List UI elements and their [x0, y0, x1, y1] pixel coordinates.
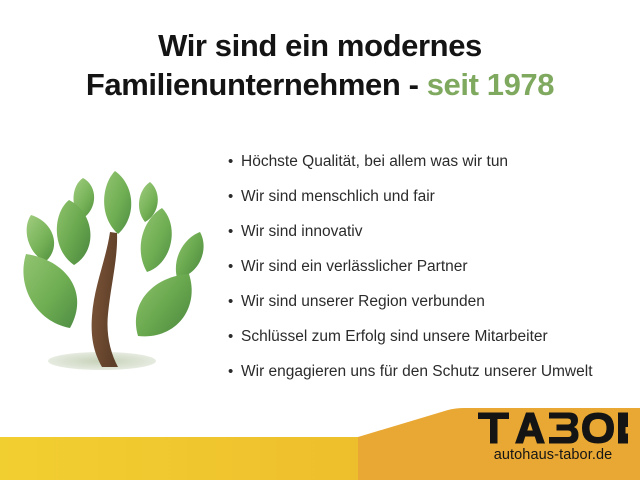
list-item-label: Wir sind unserer Region verbunden — [241, 292, 485, 312]
headline-line-2-main: Familienunternehmen - — [86, 67, 427, 102]
list-item: • Wir engagieren uns für den Schutz unse… — [228, 362, 640, 397]
bullet-icon: • — [228, 292, 241, 312]
page-title: Wir sind ein modernes Familienunternehme… — [0, 26, 640, 104]
list-item-label: Schlüssel zum Erfolg sind unsere Mitarbe… — [241, 327, 548, 347]
list-item: • Wir sind menschlich und fair — [228, 187, 640, 222]
slide-canvas: Wir sind ein modernes Familienunternehme… — [0, 0, 640, 480]
brand-tagline: autohaus-tabor.de — [478, 447, 628, 463]
bullet-icon: • — [228, 257, 241, 277]
bullet-icon: • — [228, 327, 241, 347]
list-item: • Wir sind unserer Region verbunden — [228, 292, 640, 327]
leaf-lower-right — [136, 274, 192, 336]
tree-trunk — [92, 232, 118, 367]
brand-wordmark — [478, 412, 628, 444]
leaf-lower-left — [23, 254, 77, 328]
list-item: • Schlüssel zum Erfolg sind unsere Mitar… — [228, 327, 640, 362]
bullet-icon: • — [228, 362, 241, 382]
list-item: • Wir sind ein verlässlicher Partner — [228, 257, 640, 292]
leaf-top-center — [104, 171, 131, 234]
brand-logo[interactable]: autohaus-tabor.de — [478, 412, 628, 463]
bullet-icon: • — [228, 222, 241, 242]
leaf-mid-far-right — [176, 232, 204, 278]
list-item-label: Wir sind menschlich und fair — [241, 187, 435, 207]
tree-illustration — [14, 164, 214, 386]
footer-yellow-strip — [0, 437, 358, 480]
list-item-label: Wir sind ein verlässlicher Partner — [241, 257, 468, 277]
list-item-label: Höchste Qualität, bei allem was wir tun — [241, 152, 508, 172]
list-item-label: Wir sind innovativ — [241, 222, 362, 242]
headline-accent-year: seit 1978 — [427, 67, 554, 102]
list-item: • Höchste Qualität, bei allem was wir tu… — [228, 152, 640, 187]
headline-line-1: Wir sind ein modernes — [158, 28, 482, 63]
list-item: • Wir sind innovativ — [228, 222, 640, 257]
bullet-icon: • — [228, 152, 241, 172]
headline-line-2: Familienunternehmen - seit 1978 — [0, 65, 640, 104]
list-item-label: Wir engagieren uns für den Schutz unsere… — [241, 362, 593, 382]
value-list: • Höchste Qualität, bei allem was wir tu… — [228, 152, 640, 397]
bullet-icon: • — [228, 187, 241, 207]
